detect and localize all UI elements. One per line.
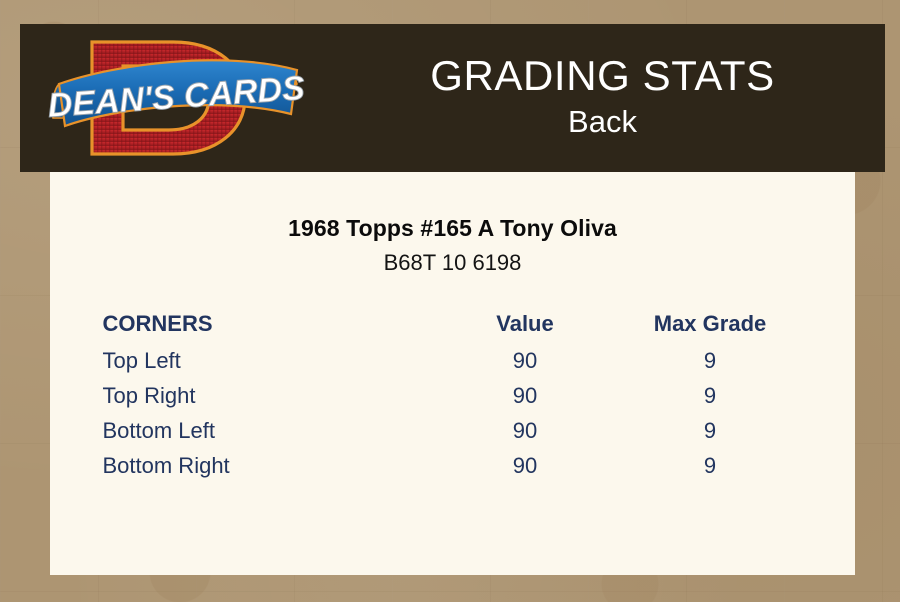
row-label: Top Left xyxy=(103,343,433,378)
row-label: Bottom Left xyxy=(103,413,433,448)
table-row: Bottom Left 90 9 xyxy=(103,413,803,448)
grading-stats-table: CORNERS Value Max Grade Top Left 90 9 To… xyxy=(103,305,803,483)
table-row: Bottom Right 90 9 xyxy=(103,448,803,483)
column-header-value: Value xyxy=(433,305,618,343)
row-value: 90 xyxy=(433,448,618,483)
row-label: Bottom Right xyxy=(103,448,433,483)
page-subtitle: Back xyxy=(568,103,637,142)
row-max-grade: 9 xyxy=(618,378,803,413)
table-row: Top Right 90 9 xyxy=(103,378,803,413)
row-value: 90 xyxy=(433,413,618,448)
card-identifier: B68T 10 6198 xyxy=(50,250,855,276)
row-max-grade: 9 xyxy=(618,448,803,483)
column-header-max-grade: Max Grade xyxy=(618,305,803,343)
row-value: 90 xyxy=(433,378,618,413)
header-title-group: GRADING STATS Back xyxy=(320,24,885,172)
content-panel: 1968 Topps #165 A Tony Oliva B68T 10 619… xyxy=(50,172,855,575)
table-row: Top Left 90 9 xyxy=(103,343,803,378)
row-max-grade: 9 xyxy=(618,343,803,378)
deans-cards-logo[interactable]: DEAN'S CARDS xyxy=(45,26,315,170)
row-label: Top Right xyxy=(103,378,433,413)
table-header-row: CORNERS Value Max Grade xyxy=(103,305,803,343)
logo-ribbon: DEAN'S CARDS xyxy=(46,60,306,126)
row-value: 90 xyxy=(433,343,618,378)
page-title: GRADING STATS xyxy=(430,54,775,99)
column-header-corners: CORNERS xyxy=(103,305,433,343)
row-max-grade: 9 xyxy=(618,413,803,448)
header-bar: DEAN'S CARDS GRADING STATS Back xyxy=(20,24,885,172)
card-title: 1968 Topps #165 A Tony Oliva xyxy=(50,215,855,242)
